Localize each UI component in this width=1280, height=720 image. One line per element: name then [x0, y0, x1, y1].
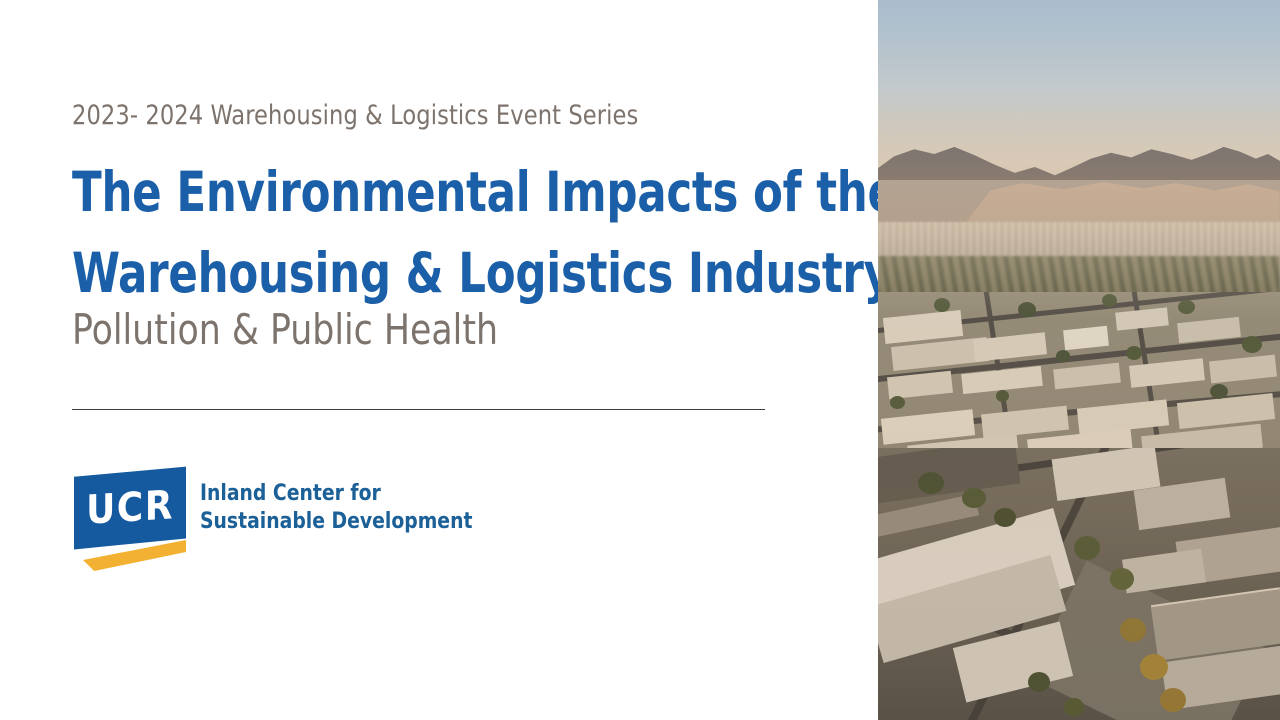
text-panel: 2023- 2024 Warehousing & Logistics Event…	[0, 0, 878, 720]
org-name: Inland Center for Sustainable Developmen…	[200, 480, 472, 536]
subtitle: Pollution & Public Health	[72, 305, 498, 354]
ucr-logo-mark: UCR	[72, 463, 192, 573]
ucr-logo: UCR Inland Center for Sustainable Develo…	[72, 463, 472, 573]
title-slide: 2023- 2024 Warehousing & Logistics Event…	[0, 0, 1280, 720]
ucr-wordmark: UCR	[74, 459, 186, 558]
title-line-2: Warehousing & Logistics Industry:	[72, 233, 758, 314]
org-name-line-1: Inland Center for	[200, 480, 472, 508]
title-line-1: The Environmental Impacts of the	[72, 152, 758, 233]
aerial-warehouse-photo	[878, 0, 1280, 720]
event-series-eyebrow: 2023- 2024 Warehousing & Logistics Event…	[72, 100, 638, 131]
page-title: The Environmental Impacts of the Warehou…	[72, 152, 852, 315]
midground-warehouse-district	[878, 292, 1280, 462]
horizontal-divider	[72, 409, 765, 410]
foreground-warehouse-block	[878, 448, 1280, 720]
org-name-line-2: Sustainable Development	[200, 508, 472, 536]
